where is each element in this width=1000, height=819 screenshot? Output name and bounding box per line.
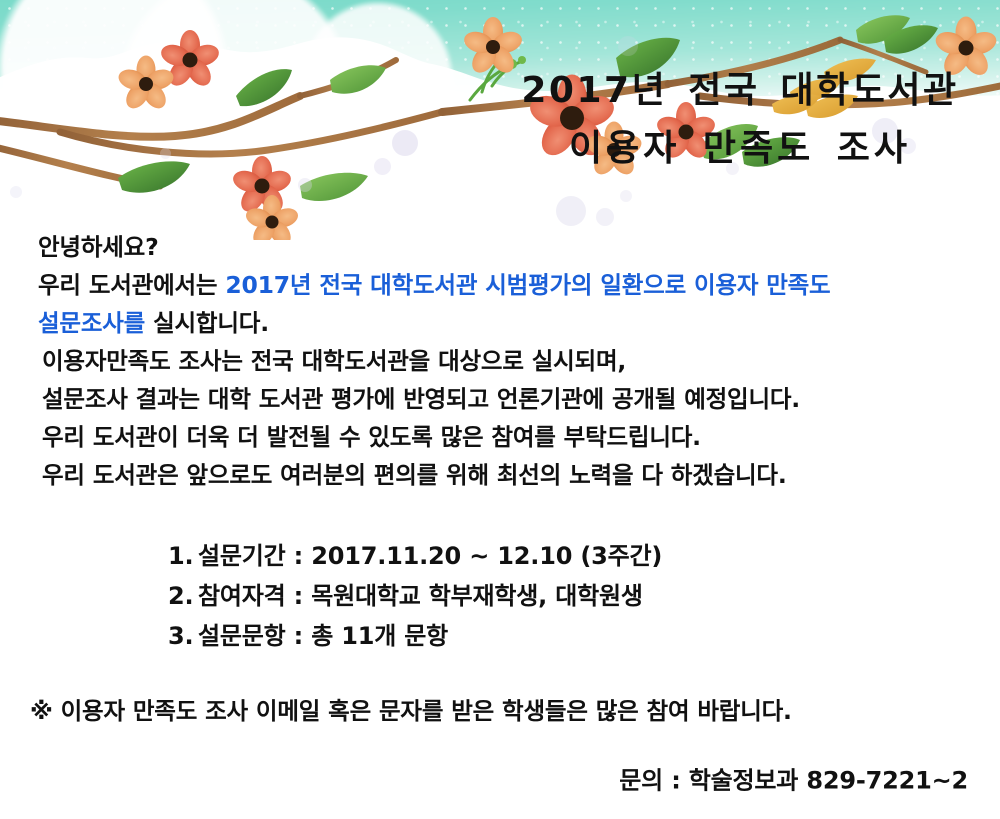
poster-title: 2017년 전국 대학도서관 이용자 만족도 조사 (505, 62, 975, 179)
list-item: 2.참여자격 : 목원대학교 학부재학생, 대학원생 (168, 576, 662, 616)
list-item-text: 설문기간 : 2017.11.20 ~ 12.10 (3주간) (198, 542, 662, 570)
bokeh-dot (10, 186, 22, 198)
bokeh-dot (620, 190, 632, 202)
intro-line-2: 설문조사를 실시합니다. (38, 304, 978, 342)
bokeh-dot (298, 178, 312, 192)
list-item-number: 2. (168, 576, 198, 616)
request-line: 우리 도서관이 더욱 더 발전될 수 있도록 많은 참여를 부탁드립니다. (38, 418, 978, 456)
intro-prefix: 우리 도서관에서는 (38, 271, 225, 299)
bokeh-dot (392, 130, 418, 156)
title-line-1: 2017년 전국 대학도서관 (505, 62, 975, 120)
bokeh-dot (596, 208, 614, 226)
list-item-text: 참여자격 : 목원대학교 학부재학생, 대학원생 (198, 582, 643, 610)
participation-note: ※ 이용자 만족도 조사 이메일 혹은 문자를 받은 학생들은 많은 참여 바랍… (30, 692, 792, 726)
poster-body: 안녕하세요? 우리 도서관에서는 2017년 전국 대학도서관 시범평가의 일환… (38, 228, 978, 494)
intro-line-1: 우리 도서관에서는 2017년 전국 대학도서관 시범평가의 일환으로 이용자 … (38, 266, 978, 304)
scope-line: 이용자만족도 조사는 전국 대학도서관을 대상으로 실시되며, (38, 342, 978, 380)
bokeh-dot (618, 36, 638, 56)
result-line: 설문조사 결과는 대학 도서관 평가에 반영되고 언론기관에 공개될 예정입니다… (38, 380, 978, 418)
poster-canvas: 2017년 전국 대학도서관 이용자 만족도 조사 안녕하세요? 우리 도서관에… (0, 0, 1000, 819)
intro-highlight-2: 설문조사를 (38, 309, 145, 337)
survey-details-list: 1.설문기간 : 2017.11.20 ~ 12.10 (3주간) 2.참여자격… (168, 536, 662, 656)
list-item-number: 1. (168, 536, 198, 576)
bokeh-dot (374, 158, 391, 175)
list-item-text: 설문문항 : 총 11개 문항 (198, 622, 448, 650)
bokeh-dot (556, 196, 586, 226)
list-item: 1.설문기간 : 2017.11.20 ~ 12.10 (3주간) (168, 536, 662, 576)
list-item: 3.설문문항 : 총 11개 문항 (168, 616, 662, 656)
intro-suffix: 실시합니다. (145, 309, 269, 337)
intro-highlight-1: 2017년 전국 대학도서관 시범평가의 일환으로 이용자 만족도 (225, 271, 830, 299)
contact-info: 문의 : 학술정보과 829-7221~2 (619, 761, 968, 796)
bokeh-dot (160, 148, 171, 159)
greeting-line: 안녕하세요? (38, 228, 978, 266)
list-item-number: 3. (168, 616, 198, 656)
title-line-2: 이용자 만족도 조사 (505, 120, 975, 178)
pledge-line: 우리 도서관은 앞으로도 여러분의 편의를 위해 최선의 노력을 다 하겠습니다… (38, 456, 978, 494)
